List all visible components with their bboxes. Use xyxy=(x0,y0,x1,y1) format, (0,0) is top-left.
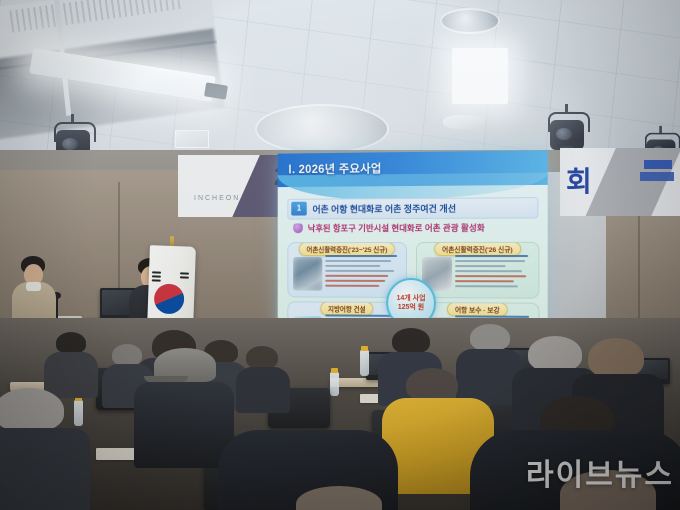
badge-line-1: 14개 사업 xyxy=(397,294,426,303)
table-mic-stand xyxy=(56,296,58,320)
banner-right-char: 회 xyxy=(566,160,592,200)
banner-right-label-block-2 xyxy=(640,172,674,181)
slide-subtitle-text: 낙후된 항포구 기반시설 현대화로 어촌 관광 활성화 xyxy=(308,222,485,235)
trigram-4 xyxy=(180,272,189,275)
trigram-5 xyxy=(180,276,189,279)
panel-top-right-text xyxy=(455,255,534,290)
banner-right-label-block xyxy=(644,160,672,169)
slide-section-bar: 1 어촌 어항 현대화로 어촌 정주여건 개선 xyxy=(287,197,538,219)
water-bottle-2 xyxy=(74,400,83,426)
watermark-live-news: 라이브뉴스 xyxy=(526,450,674,494)
trigram-2 xyxy=(152,275,161,278)
banner-right-federation: 회 xyxy=(560,148,680,216)
badge-line-2: 125억 원 xyxy=(398,303,424,312)
conference-room-photo: INCHEON 20 회 Ⅰ. 2026년 주요사업 1 어촌 어항 현대화로 … xyxy=(0,0,680,510)
podium-speaker-collar xyxy=(26,282,41,291)
panel-top-left-tab: 어촌신활력증진('23~'25 신규) xyxy=(299,242,396,256)
trigram-1 xyxy=(152,271,161,274)
section-number-badge: 1 xyxy=(291,202,307,216)
panel-top-right: 어촌신활력증진('26 신규) xyxy=(416,242,539,299)
bullet-gem-icon xyxy=(293,223,303,233)
section-title-text: 어촌 어항 현대화로 어촌 정주여건 개선 xyxy=(313,202,456,216)
slide-subtitle-row: 낙후된 항포구 기반시설 현대화로 어촌 관광 활성화 xyxy=(293,221,537,236)
trigram-3 xyxy=(152,279,161,282)
panel-top-left-text xyxy=(325,255,402,290)
water-bottle-1 xyxy=(360,350,369,376)
panel-top-right-tab: 어촌신활력증진('26 신규) xyxy=(434,242,521,256)
water-bottle-4 xyxy=(330,372,339,396)
panel-top-left-thumbnail xyxy=(293,257,322,291)
banner-brand-text: INCHEON xyxy=(194,195,240,202)
slide-title: Ⅰ. 2026년 주요사업 xyxy=(288,160,381,177)
